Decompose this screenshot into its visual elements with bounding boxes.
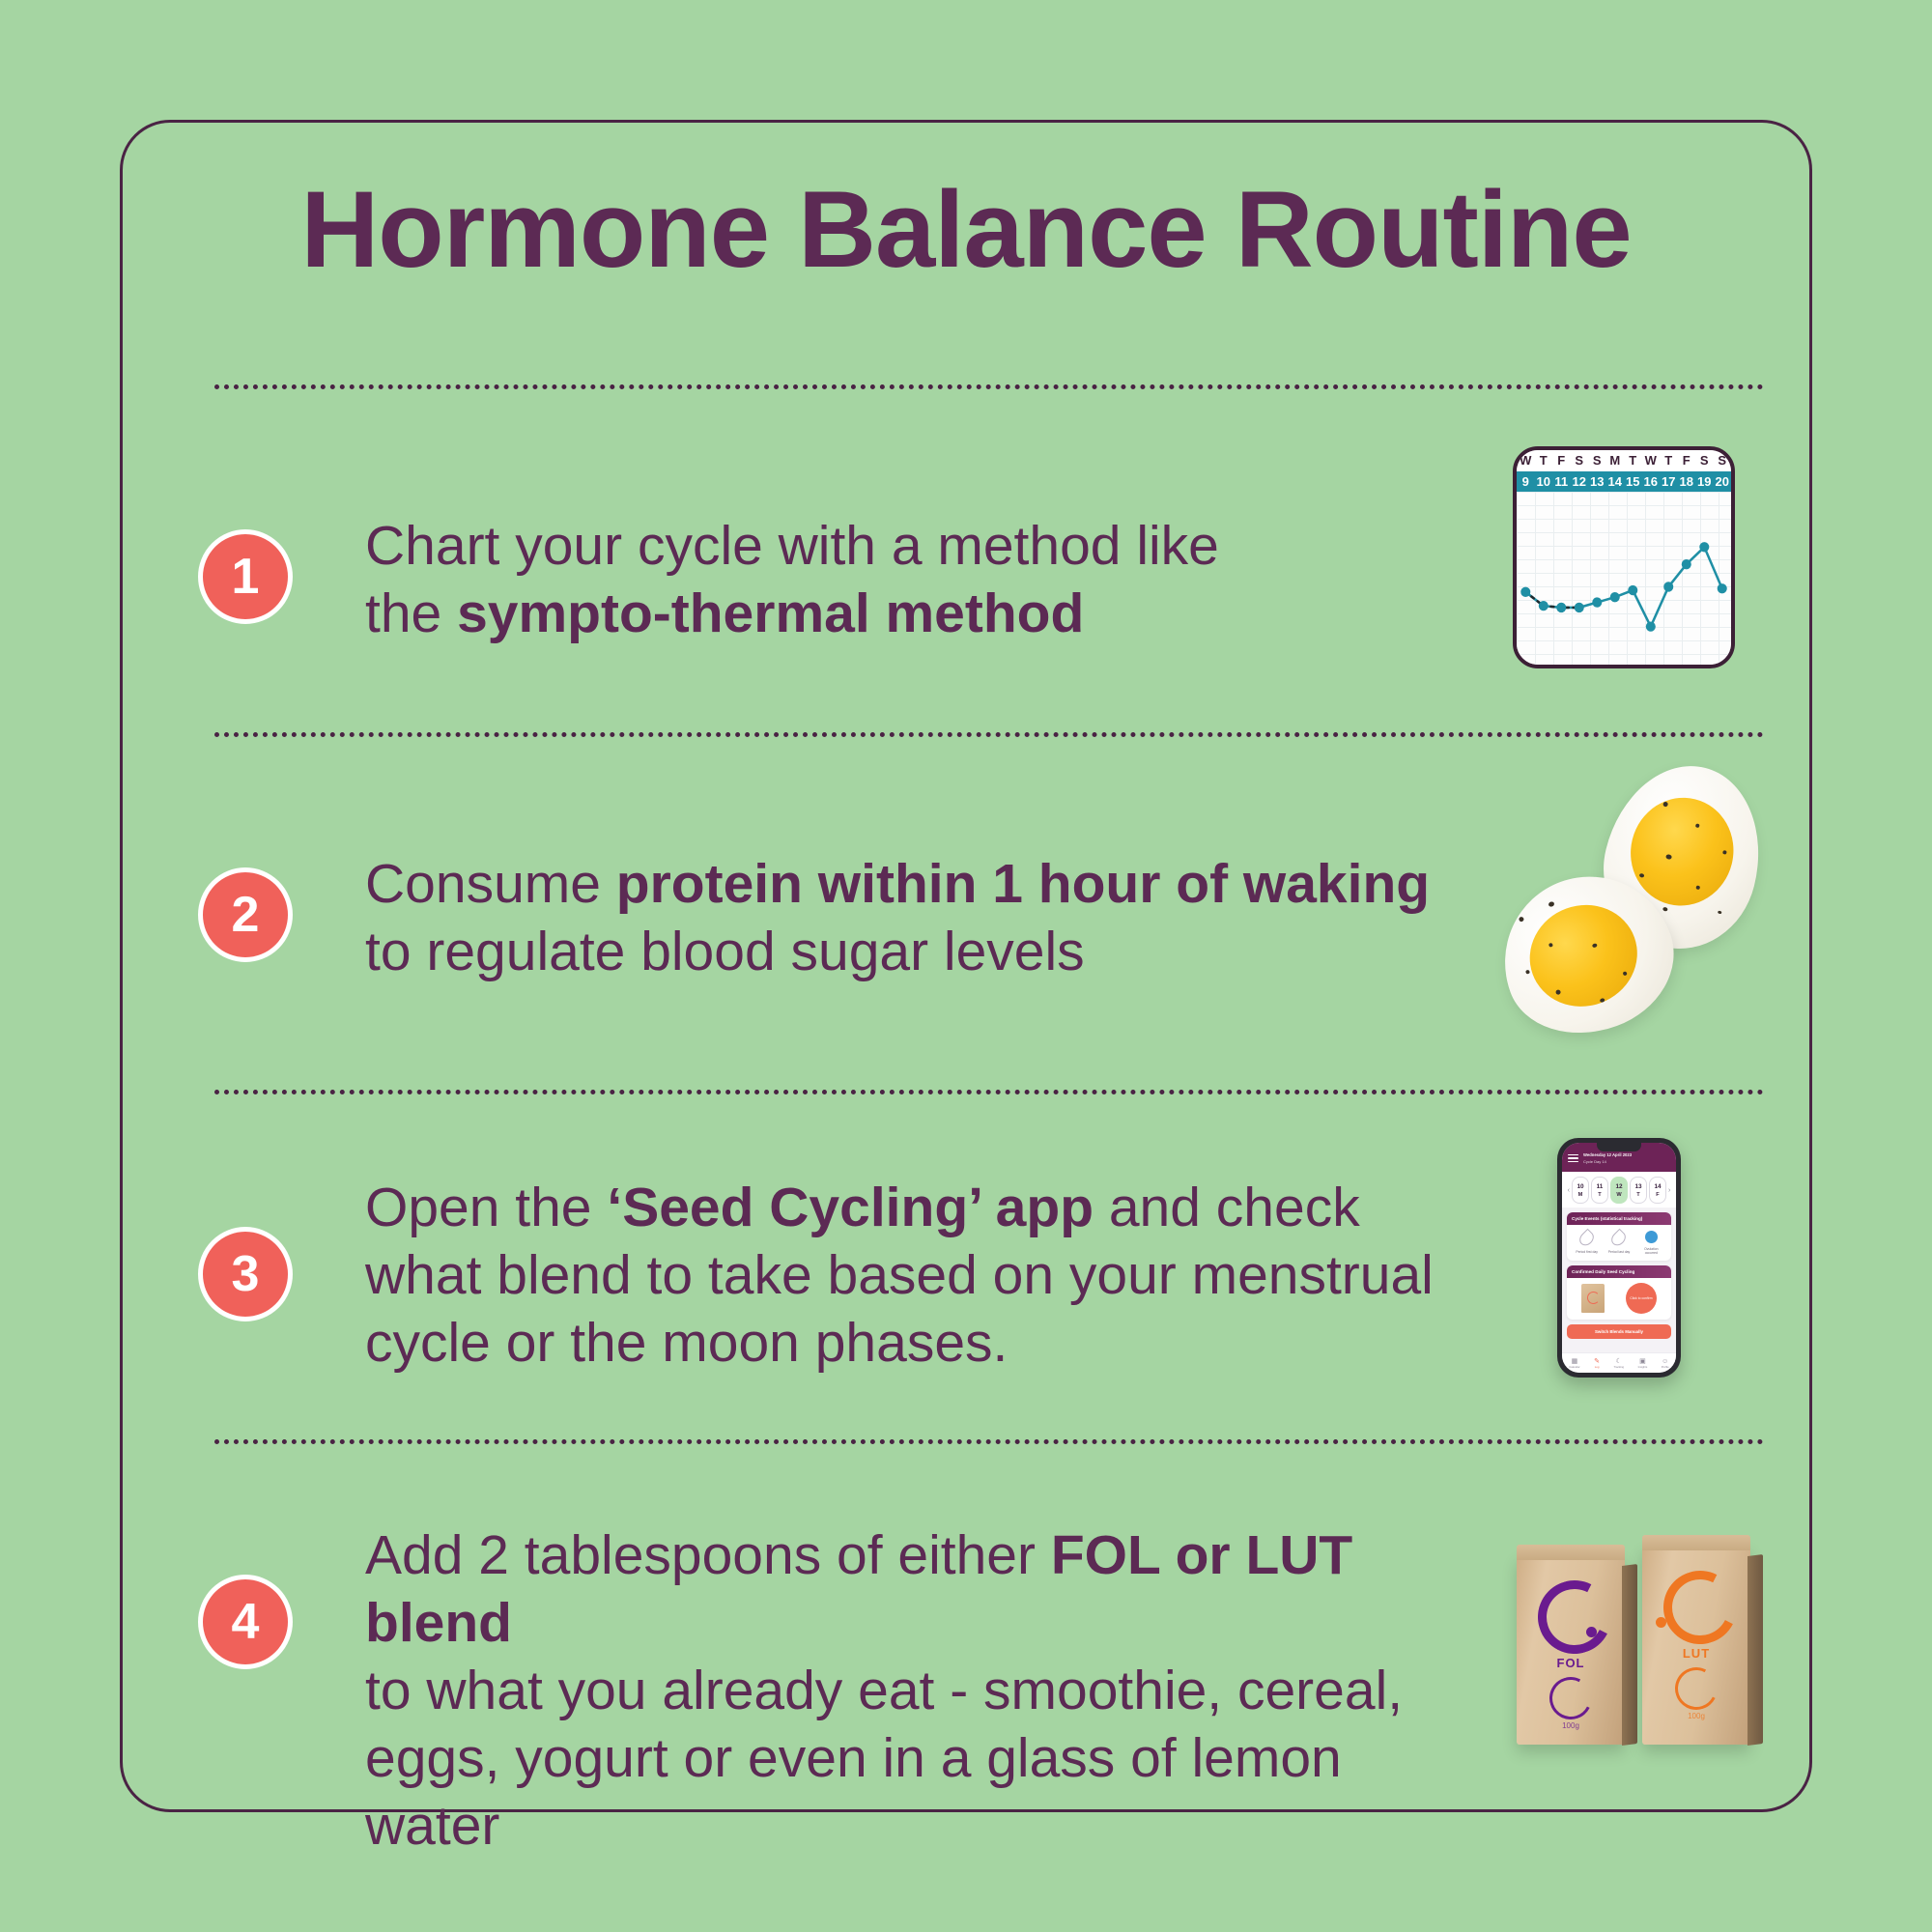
- step-number-badge-3: 3: [198, 1227, 293, 1321]
- chart-weekday-label: T: [1624, 450, 1642, 471]
- chart-data-point: [1628, 585, 1637, 595]
- bag-mini-logo-lut: [1669, 1662, 1722, 1715]
- day-strip: ‹ 10 M 11 T 12 W 13 T 14: [1562, 1172, 1676, 1207]
- tab-label: Calendar: [1569, 1365, 1579, 1369]
- chart-day-number: 14: [1606, 471, 1625, 492]
- tab-label: Tracking: [1613, 1365, 1624, 1369]
- chart-data-point: [1718, 583, 1727, 593]
- day-cell-selected[interactable]: 12 W: [1610, 1177, 1628, 1204]
- seed-cycling-body: Click to confirm: [1567, 1278, 1671, 1320]
- chart-day-number: 13: [1588, 471, 1606, 492]
- bag-label-lut: LUT: [1642, 1646, 1750, 1661]
- prev-day-arrow[interactable]: ‹: [1568, 1187, 1570, 1194]
- cycle-events-body: Period first day Period last day Ovulati…: [1567, 1225, 1671, 1261]
- chart-weekday-label: S: [1571, 450, 1589, 471]
- chart-weekday-label: S: [1714, 450, 1732, 471]
- day-letter: M: [1578, 1192, 1583, 1198]
- cycle-events-card: Cycle Events (statistical tracking) Peri…: [1567, 1212, 1671, 1261]
- chart-data-point: [1556, 603, 1566, 612]
- chart-weekday-label: W: [1517, 450, 1535, 471]
- chart-weekday-label: S: [1588, 450, 1606, 471]
- seed-cycling-title: Confirmed Daily Seed Cycling: [1567, 1265, 1671, 1278]
- app-header-date: Wednesday 12 April 2023: [1583, 1152, 1632, 1157]
- phone-screen: Wednesday 12 April 2023 Cycle Day 14 ‹ 1…: [1562, 1143, 1676, 1373]
- cycle-event-label: Period first day: [1576, 1250, 1598, 1254]
- tab-profile[interactable]: ☺ Profile: [1662, 1358, 1669, 1369]
- day-letter: W: [1616, 1192, 1621, 1198]
- step-text-2: Consume protein within 1 hour of wakingt…: [365, 850, 1486, 985]
- tab-tracking[interactable]: ☾ Tracking: [1613, 1358, 1624, 1369]
- chart-daynumber-row: 91011121314151617181920: [1517, 471, 1731, 492]
- drop-outline-icon: [1609, 1229, 1630, 1249]
- day-cell[interactable]: 13 T: [1630, 1177, 1647, 1204]
- cycle-event-label: Ovulation occurred: [1638, 1247, 1663, 1256]
- cycle-event-item[interactable]: Ovulation occurred: [1638, 1231, 1663, 1256]
- chart-day-number: 10: [1535, 471, 1553, 492]
- phone-app-mockup: Wednesday 12 April 2023 Cycle Day 14 ‹ 1…: [1557, 1138, 1681, 1378]
- chart-day-number: 16: [1642, 471, 1661, 492]
- step-text-3: Open the ‘Seed Cycling’ app and checkwha…: [365, 1174, 1486, 1377]
- tab-insights[interactable]: ▣ Insights: [1638, 1358, 1648, 1369]
- day-number: 14: [1654, 1183, 1661, 1190]
- chart-day-number: 12: [1571, 471, 1589, 492]
- day-cell[interactable]: 14 F: [1649, 1177, 1666, 1204]
- chart-line-svg: [1517, 492, 1731, 665]
- seed-bag-lut: LUT 100g: [1642, 1546, 1750, 1745]
- divider-1: [214, 384, 1764, 389]
- c-arc-logo-lut: [1654, 1561, 1747, 1654]
- confirm-button[interactable]: Click to confirm: [1626, 1283, 1657, 1314]
- chart-data-point: [1699, 542, 1709, 552]
- chart-weekday-label: S: [1695, 450, 1714, 471]
- divider-3: [214, 1090, 1764, 1094]
- chart-day-number: 17: [1660, 471, 1678, 492]
- day-number: 13: [1634, 1183, 1641, 1190]
- step-number-badge-2: 2: [198, 867, 293, 962]
- blue-circle-icon: [1645, 1231, 1658, 1243]
- chart-data-point: [1592, 597, 1602, 607]
- chart-day-number: 19: [1695, 471, 1714, 492]
- tab-label: Log: [1595, 1365, 1600, 1369]
- cycle-event-item[interactable]: Period first day: [1575, 1231, 1600, 1256]
- chart-day-number: 18: [1678, 471, 1696, 492]
- pencil-icon: ✎: [1594, 1358, 1600, 1365]
- hamburger-icon[interactable]: [1568, 1154, 1578, 1162]
- chart-data-point: [1663, 582, 1673, 591]
- day-cell[interactable]: 11 T: [1591, 1177, 1608, 1204]
- chart-data-point: [1575, 603, 1584, 612]
- chart-data-point: [1539, 601, 1548, 611]
- seed-blend-bags: FOL 100g LUT 100g: [1509, 1513, 1779, 1745]
- day-letter: T: [1636, 1192, 1639, 1198]
- seed-bag-icon: [1581, 1284, 1605, 1313]
- chart-icon: ▣: [1639, 1358, 1646, 1365]
- chart-day-number: 11: [1552, 471, 1571, 492]
- chart-day-number: 15: [1624, 471, 1642, 492]
- day-number: 10: [1577, 1183, 1583, 1190]
- chart-weekday-label: T: [1535, 450, 1553, 471]
- chart-plot-area: [1517, 492, 1731, 665]
- infographic-canvas: Hormone Balance Routine 1 Chart your cyc…: [0, 0, 1932, 1932]
- bag-mini-logo-fol: [1544, 1671, 1597, 1724]
- tab-calendar[interactable]: ▦ Calendar: [1569, 1358, 1579, 1369]
- bag-gusset: [1622, 1564, 1637, 1746]
- chart-weekday-label: F: [1678, 450, 1696, 471]
- chart-day-number: 20: [1714, 471, 1732, 492]
- day-letter: T: [1598, 1192, 1601, 1198]
- bag-top-fold: [1517, 1545, 1625, 1560]
- moon-icon: ☾: [1616, 1358, 1622, 1365]
- day-letter: F: [1656, 1192, 1659, 1198]
- step-number-badge-1: 1: [198, 529, 293, 624]
- tab-label: Insights: [1638, 1365, 1648, 1369]
- c-arc-logo-fol: [1528, 1571, 1621, 1663]
- boiled-eggs-photo: [1492, 753, 1782, 1043]
- tab-label: Profile: [1662, 1365, 1669, 1369]
- app-header-subtitle: Cycle Day 14: [1583, 1159, 1606, 1164]
- day-number: 11: [1597, 1183, 1604, 1190]
- chart-data-point: [1520, 587, 1530, 597]
- step-number-badge-4: 4: [198, 1575, 293, 1669]
- chart-weekday-label: F: [1552, 450, 1571, 471]
- chart-data-point: [1610, 592, 1620, 602]
- divider-2: [214, 732, 1764, 737]
- c-arc-dot-fol: [1586, 1627, 1597, 1637]
- drop-outline-icon: [1577, 1229, 1597, 1249]
- page-title: Hormone Balance Routine: [0, 176, 1932, 284]
- bag-weight-fol: 100g: [1517, 1721, 1625, 1730]
- cycle-event-label: Period last day: [1608, 1250, 1630, 1254]
- bag-label-fol: FOL: [1517, 1656, 1625, 1670]
- chart-weekday-label: T: [1660, 450, 1678, 471]
- step-text-1: Chart your cycle with a method likethe s…: [365, 512, 1486, 647]
- next-day-arrow[interactable]: ›: [1668, 1187, 1670, 1194]
- day-cell[interactable]: 10 M: [1572, 1177, 1589, 1204]
- c-arc-dot-lut: [1656, 1617, 1666, 1628]
- switch-blends-button[interactable]: Switch Blends Manually: [1567, 1324, 1671, 1339]
- step-text-4: Add 2 tablespoons of either FOL or LUT b…: [365, 1521, 1486, 1861]
- divider-4: [214, 1439, 1764, 1444]
- chart-data-point: [1682, 559, 1691, 569]
- chart-weekday-label: W: [1642, 450, 1661, 471]
- chart-weekday-row: WTFSSMTWTFSS: [1517, 450, 1731, 471]
- cycle-event-item[interactable]: Period last day: [1606, 1231, 1632, 1256]
- calendar-icon: ▦: [1572, 1358, 1578, 1365]
- bag-weight-lut: 100g: [1642, 1712, 1750, 1720]
- day-number: 12: [1615, 1183, 1622, 1190]
- person-icon: ☺: [1662, 1358, 1668, 1365]
- bag-top-fold: [1642, 1535, 1750, 1550]
- tab-log[interactable]: ✎ Log: [1594, 1358, 1600, 1369]
- cycle-events-title: Cycle Events (statistical tracking): [1567, 1212, 1671, 1225]
- bbt-chart-thumbnail: WTFSSMTWTFSS 91011121314151617181920: [1513, 446, 1735, 668]
- chart-data-point: [1646, 621, 1656, 631]
- seed-bag-fol: FOL 100g: [1517, 1555, 1625, 1745]
- phone-notch: [1597, 1143, 1641, 1151]
- seed-cycling-card: Confirmed Daily Seed Cycling Click to co…: [1567, 1265, 1671, 1320]
- chart-day-number: 9: [1517, 471, 1535, 492]
- bottom-tab-bar: ▦ Calendar ✎ Log ☾ Tracking ▣ Insights ☺: [1562, 1352, 1676, 1373]
- chart-weekday-label: M: [1606, 450, 1625, 471]
